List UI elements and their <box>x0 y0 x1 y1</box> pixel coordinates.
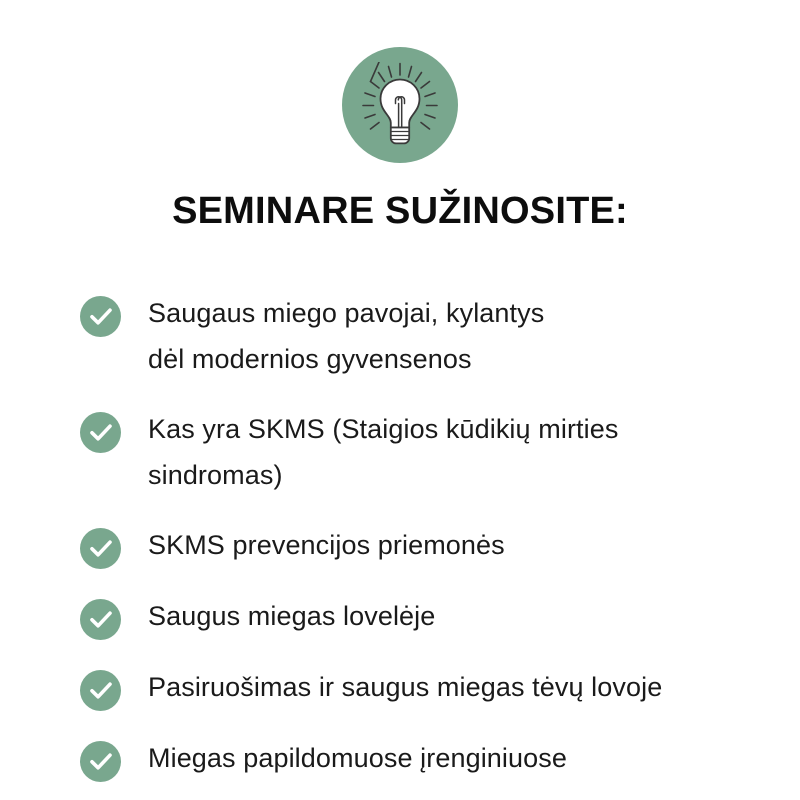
list-item-line: Saugaus miego pavojai, kylantys <box>148 290 780 336</box>
list-item-line: Kas yra SKMS (Staigios kūdikių mirties <box>148 406 780 452</box>
list-item-line: SKMS prevencijos priemonės <box>148 522 780 568</box>
hero-icon-container <box>0 47 800 163</box>
list-item: Miegas papildomuose įrenginiuose <box>80 735 780 782</box>
check-icon <box>80 412 121 453</box>
list-item: SKMS prevencijos priemonės <box>80 522 780 569</box>
page-title: SEMINARE SUŽINOSITE: <box>0 188 800 234</box>
check-icon <box>80 599 121 640</box>
list-item-line: Pasiruošimas ir saugus miegas tėvų lovoj… <box>148 664 780 710</box>
check-icon <box>80 670 121 711</box>
seminar-topics-list: Saugaus miego pavojai, kylantys dėl mode… <box>80 290 780 782</box>
list-item-line: sindromas) <box>148 452 780 498</box>
check-icon <box>80 528 121 569</box>
lightbulb-icon <box>361 62 439 148</box>
list-item-line: Saugus miegas lovelėje <box>148 593 780 639</box>
check-icon <box>80 296 121 337</box>
hero-icon-circle <box>342 47 458 163</box>
list-item-label: Saugus miegas lovelėje <box>148 593 780 639</box>
list-item-label: Saugaus miego pavojai, kylantys dėl mode… <box>148 290 780 382</box>
list-item-label: Kas yra SKMS (Staigios kūdikių mirties s… <box>148 406 780 498</box>
list-item-label: Pasiruošimas ir saugus miegas tėvų lovoj… <box>148 664 780 710</box>
list-item-label: SKMS prevencijos priemonės <box>148 522 780 568</box>
list-item-label: Miegas papildomuose įrenginiuose <box>148 735 780 781</box>
list-item: Kas yra SKMS (Staigios kūdikių mirties s… <box>80 406 780 498</box>
list-item: Saugaus miego pavojai, kylantys dėl mode… <box>80 290 780 382</box>
list-item: Pasiruošimas ir saugus miegas tėvų lovoj… <box>80 664 780 711</box>
seminar-topics-poster: SEMINARE SUŽINOSITE: Saugaus miego pavoj… <box>0 0 800 800</box>
check-icon <box>80 741 121 782</box>
list-item-line: dėl modernios gyvensenos <box>148 336 780 382</box>
list-item: Saugus miegas lovelėje <box>80 593 780 640</box>
list-item-line: Miegas papildomuose įrenginiuose <box>148 735 780 781</box>
